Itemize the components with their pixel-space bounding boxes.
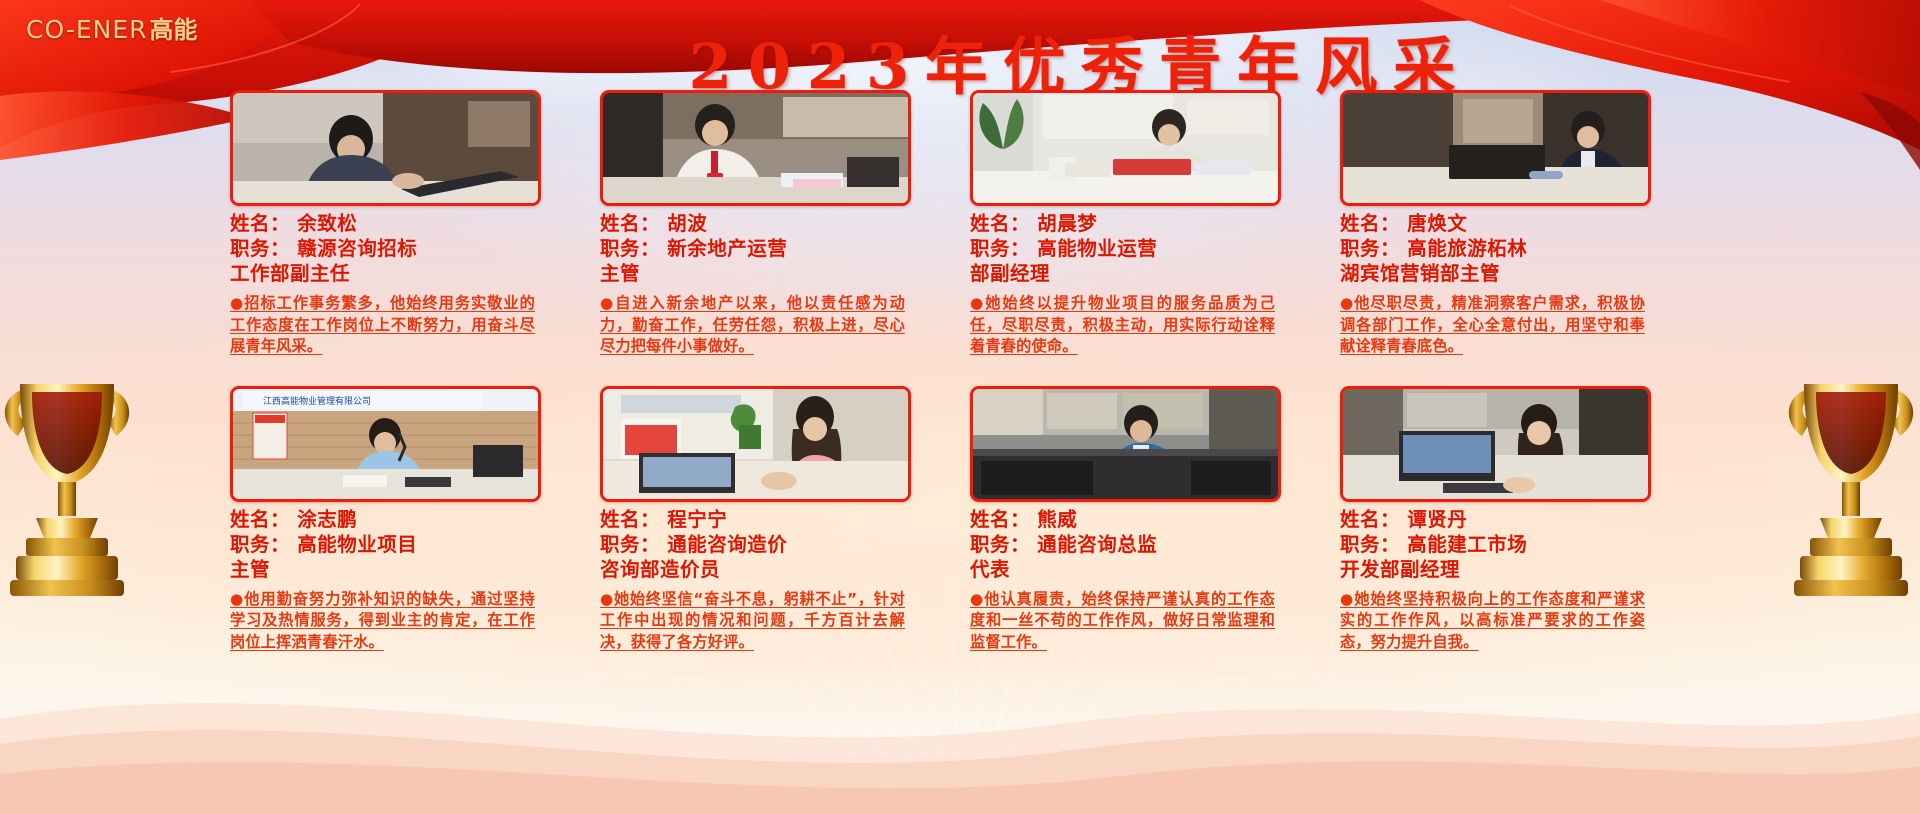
person-name: 姓名： 胡晨梦 [970,211,1275,236]
trophy-decoration-left [0,350,142,610]
person-name: 姓名： 余致松 [230,211,535,236]
person-duty-line-1: 职务： 高能旅游柘林 [1340,236,1645,261]
person-photo [970,90,1281,206]
person-description: ●自进入新余地产以来，他以责任感为动力，勤奋工作，任劳任怨，积极上进，尽心尽力把… [600,293,905,358]
person-photo [600,90,911,206]
person-meta: 姓名： 唐焕文 职务： 高能旅游柘林 湖宾馆营销部主管 [1340,211,1645,286]
person-meta: 姓名： 余致松 职务： 赣源咨询招标 工作部副主任 [230,211,535,286]
person-duty-line-2: 部副经理 [970,261,1275,286]
person-duty-line-1: 职务： 新余地产运营 [600,236,905,261]
person-card: 江西高能物业管理有限公司 [230,386,535,654]
person-duty-line-1: 职务： 通能咨询造价 [600,532,905,557]
person-name: 姓名： 谭贤丹 [1340,507,1645,532]
person-description: ●他尽职尽责，精准洞察客户需求，积极协调各部门工作，全心全意付出，用坚守和奉献诠… [1340,293,1645,358]
person-duty-line-1: 职务： 高能物业运营 [970,236,1275,261]
person-duty-line-1: 职务： 赣源咨询招标 [230,236,535,261]
person-meta: 姓名： 涂志鹏 职务： 高能物业项目 主管 [230,507,535,582]
person-photo [1340,386,1651,502]
person-duty-line-2: 湖宾馆营销部主管 [1340,261,1645,286]
person-name: 姓名： 唐焕文 [1340,211,1645,236]
person-description: ●她始终坚持积极向上的工作态度和严谨求实的工作作风，以高标准严要求的工作姿态，努… [1340,589,1645,654]
person-card: 姓名： 谭贤丹 职务： 高能建工市场 开发部副经理 ●她始终坚持积极向上的工作态… [1340,386,1645,654]
person-duty-line-2: 工作部副主任 [230,261,535,286]
person-description: ●招标工作事务繁多，他始终用务实敬业的工作态度在工作岗位上不断努力，用奋斗尽展青… [230,293,535,358]
person-name: 姓名： 程宁宁 [600,507,905,532]
person-meta: 姓名： 胡晨梦 职务： 高能物业运营 部副经理 [970,211,1275,286]
svg-text:江西高能物业管理有限公司: 江西高能物业管理有限公司 [263,395,371,407]
person-photo [970,386,1281,502]
person-name: 姓名： 涂志鹏 [230,507,535,532]
person-card: 姓名： 唐焕文 职务： 高能旅游柘林 湖宾馆营销部主管 ●他尽职尽责，精准洞察客… [1340,90,1645,358]
person-card: 姓名： 熊威 职务： 通能咨询总监 代表 ●他认真履责，始终保持严谨认真的工作态… [970,386,1275,654]
person-photo [1340,90,1651,206]
person-photo: 江西高能物业管理有限公司 [230,386,541,502]
person-meta: 姓名： 熊威 职务： 通能咨询总监 代表 [970,507,1275,582]
person-meta: 姓名： 胡波 职务： 新余地产运营 主管 [600,211,905,286]
person-card: 姓名： 胡晨梦 职务： 高能物业运营 部副经理 ●她始终以提升物业项目的服务品质… [970,90,1275,358]
person-meta: 姓名： 程宁宁 职务： 通能咨询造价 咨询部造价员 [600,507,905,582]
person-duty-line-2: 主管 [600,261,905,286]
person-description: ●他用勤奋努力弥补知识的缺失，通过坚持学习及热情服务，得到业主的肯定，在工作岗位… [230,589,535,654]
person-duty-line-1: 职务： 高能建工市场 [1340,532,1645,557]
person-description: ●她始终坚信“奋斗不息，躬耕不止”，针对工作中出现的情况和问题，千方百计去解决，… [600,589,905,654]
person-description: ●他认真履责，始终保持严谨认真的工作态度和一丝不苟的工作作风，做好日常监理和监督… [970,589,1275,654]
trophy-decoration-right [1776,350,1920,610]
person-card: 姓名： 胡波 职务： 新余地产运营 主管 ●自进入新余地产以来，他以责任感为动力… [600,90,905,358]
person-name: 姓名： 熊威 [970,507,1275,532]
person-duty-line-2: 开发部副经理 [1340,557,1645,582]
person-card: 姓名： 余致松 职务： 赣源咨询招标 工作部副主任 ●招标工作事务繁多，他始终用… [230,90,535,358]
person-meta: 姓名： 谭贤丹 职务： 高能建工市场 开发部副经理 [1340,507,1645,582]
person-description: ●她始终以提升物业项目的服务品质为己任，尽职尽责，积极主动，用实际行动诠释着青春… [970,293,1275,358]
poster-canvas: CO-ENER 高能 2023年优秀青年风采 [0,0,1920,814]
person-name: 姓名： 胡波 [600,211,905,236]
person-duty-line-2: 代表 [970,557,1275,582]
person-photo [600,386,911,502]
person-duty-line-1: 职务： 通能咨询总监 [970,532,1275,557]
person-duty-line-1: 职务： 高能物业项目 [230,532,535,557]
person-duty-line-2: 咨询部造价员 [600,557,905,582]
person-duty-line-2: 主管 [230,557,535,582]
people-grid: 姓名： 余致松 职务： 赣源咨询招标 工作部副主任 ●招标工作事务繁多，他始终用… [230,90,1700,653]
person-card: 姓名： 程宁宁 职务： 通能咨询造价 咨询部造价员 ●她始终坚信“奋斗不息，躬耕… [600,386,905,654]
person-photo [230,90,541,206]
